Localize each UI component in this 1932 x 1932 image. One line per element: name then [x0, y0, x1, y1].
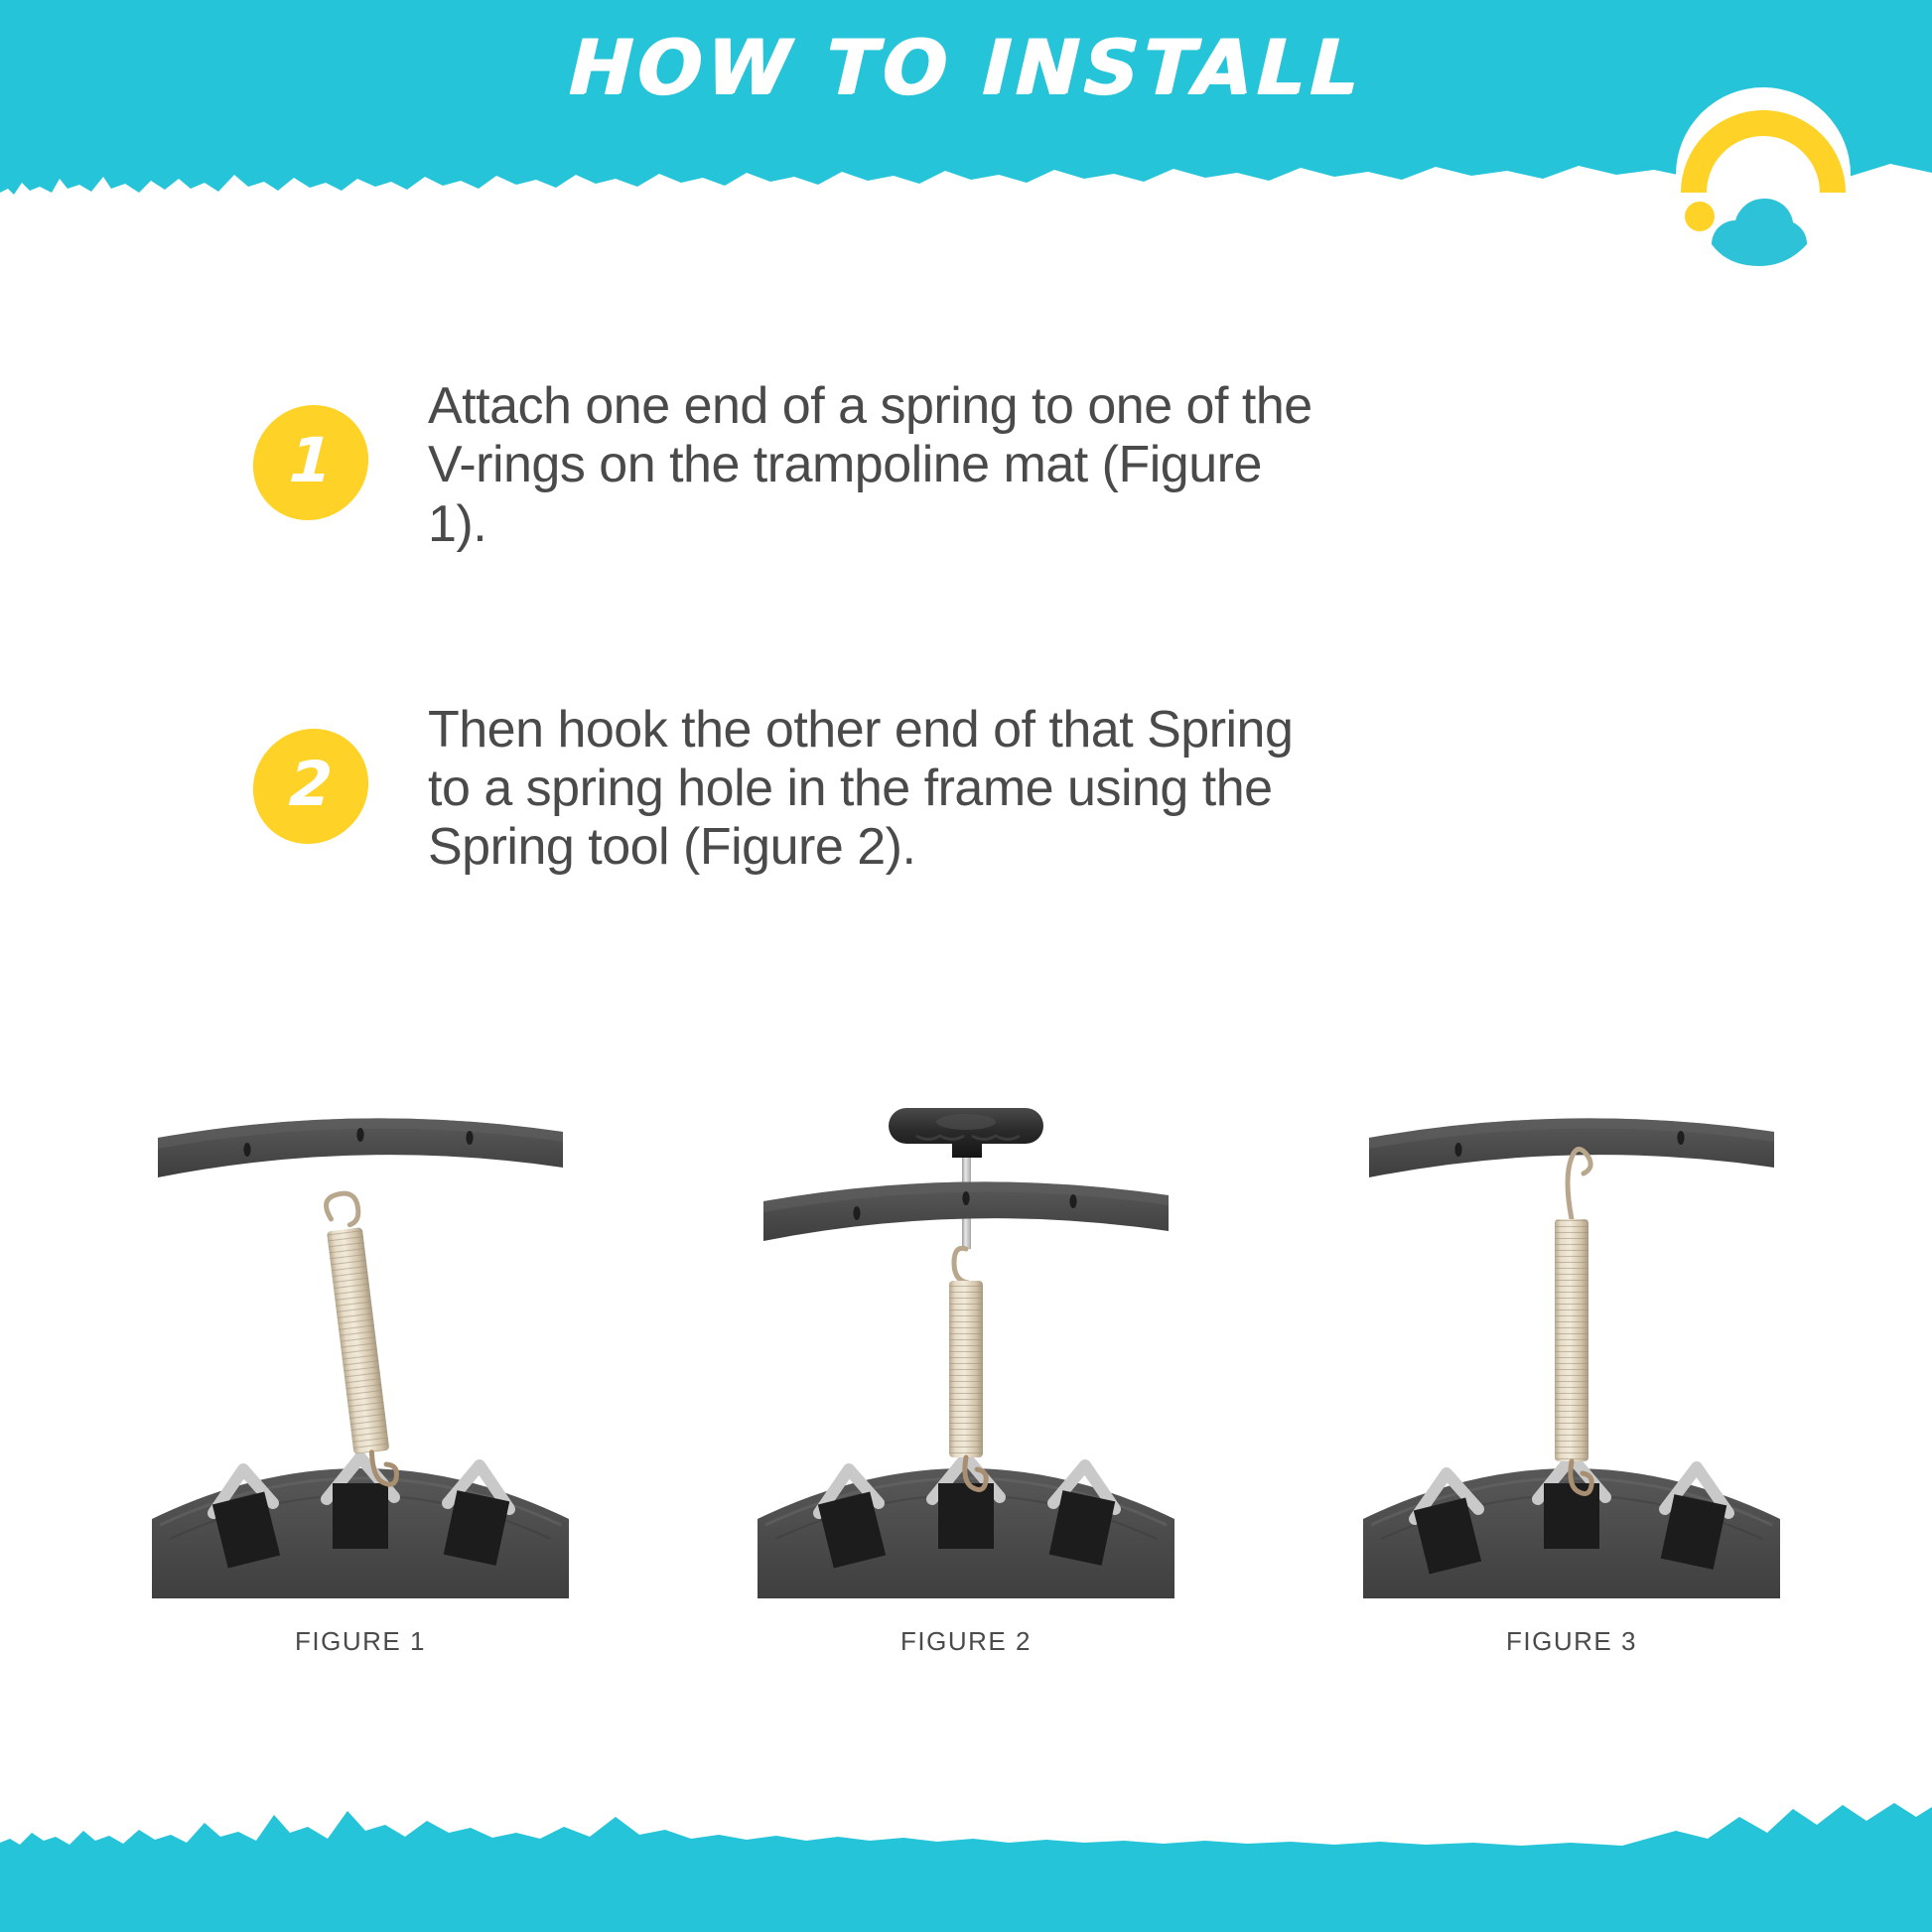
spring-tool	[889, 1108, 1043, 1249]
spring-coil	[1555, 1149, 1591, 1493]
header-banner: HOW TO INSTALL	[0, 0, 1932, 195]
steps-list: 1 Attach one end of a spring to one of t…	[0, 377, 1932, 1025]
footer-banner	[0, 1803, 1932, 1932]
spring-coil	[323, 1191, 398, 1488]
figure-2-caption: FIGURE 2	[758, 1626, 1174, 1657]
step-text-2: Then hook the other end of that Spring t…	[428, 701, 1321, 878]
step-item-2: 2 Then hook the other end of that Spring…	[253, 701, 1932, 878]
spring-coil	[949, 1248, 986, 1489]
spring-fully-installed-illustration	[1363, 1102, 1780, 1598]
spring-tool-pulling-spring-illustration	[758, 1102, 1174, 1598]
figure-1: FIGURE 1	[152, 1102, 569, 1657]
step-number-badge-2: 2	[250, 729, 371, 844]
page-title: HOW TO INSTALL	[0, 30, 1932, 105]
figure-3: FIGURE 3	[1363, 1102, 1780, 1657]
step-text-1: Attach one end of a spring to one of the…	[428, 377, 1321, 554]
poster-page: HOW TO INSTALL 1 Attach one end of a spr…	[0, 0, 1932, 1932]
figure-1-caption: FIGURE 1	[152, 1626, 569, 1657]
figure-3-caption: FIGURE 3	[1363, 1626, 1780, 1657]
sun-cloud-logo	[1664, 75, 1863, 274]
step-number-label-1: 1	[288, 430, 334, 491]
frame-bar	[158, 1118, 563, 1177]
header-torn-edge	[0, 149, 1932, 218]
spring-attached-to-vring-illustration	[152, 1102, 569, 1598]
frame-bar	[1369, 1118, 1774, 1177]
step-number-label-2: 2	[288, 754, 334, 815]
figures-row: FIGURE 1	[0, 1102, 1932, 1657]
step-item-1: 1 Attach one end of a spring to one of t…	[253, 377, 1932, 554]
step-number-badge-1: 1	[250, 405, 371, 520]
figure-2: FIGURE 2	[758, 1102, 1174, 1657]
